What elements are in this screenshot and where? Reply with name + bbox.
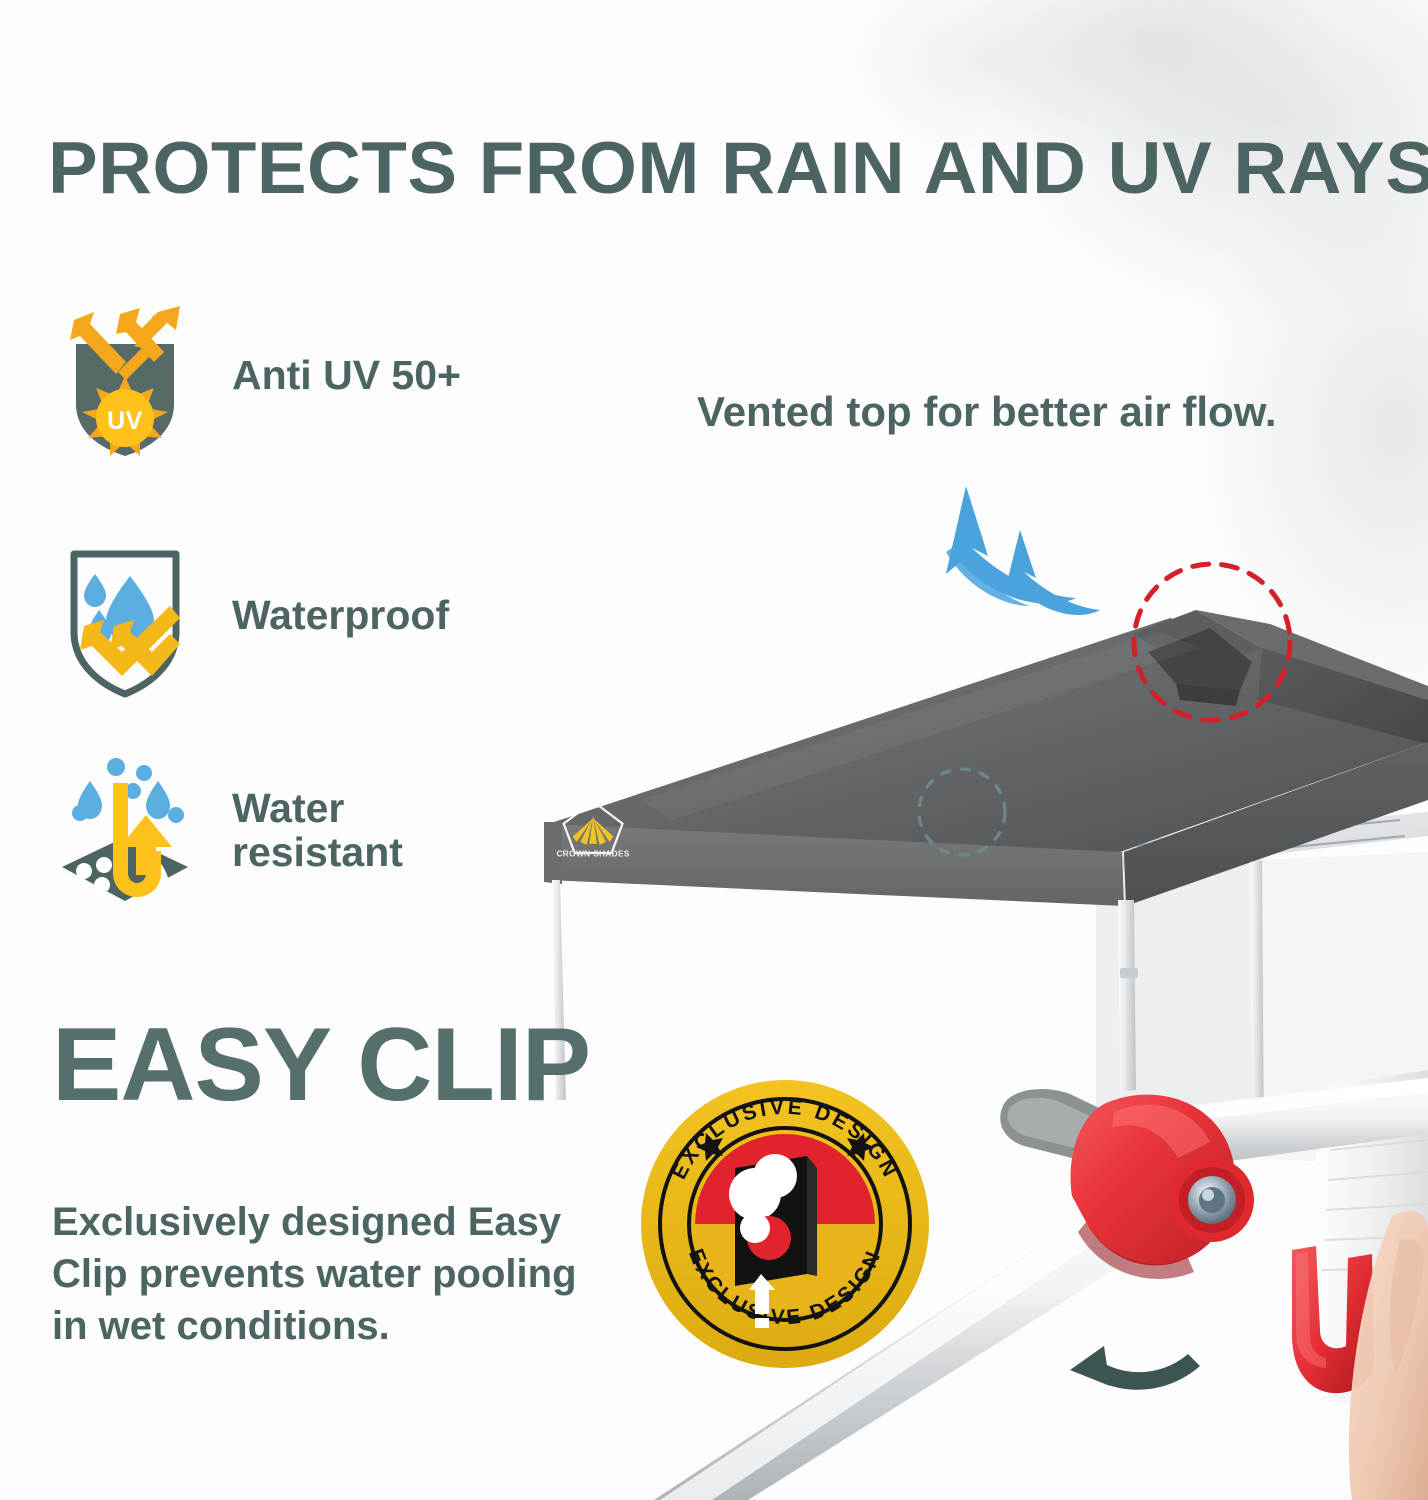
feature-label: Waterproof <box>232 593 449 637</box>
feature-item-waterproof: Waterproof <box>60 540 449 690</box>
water-resistant-surface-icon <box>60 755 190 905</box>
uv-shield-icon: UV <box>60 300 190 450</box>
svg-text:UV: UV <box>107 407 143 435</box>
easy-clip-title: EASY CLIP <box>52 1013 590 1117</box>
tent-sidewalls <box>1096 852 1428 1168</box>
page-title: PROTECTS FROM RAIN AND UV RAYS <box>48 132 1428 205</box>
crown-shades-logo: CROWN SHADES <box>556 802 629 859</box>
vented-top-caption: Vented top for better air flow. <box>697 388 1277 436</box>
feature-item-water-resistant: Water resistant <box>60 755 403 905</box>
teal-dashed-circle-highlight <box>919 769 1005 855</box>
easy-clip-description: Exclusively designed Easy Clip prevents … <box>52 1196 612 1352</box>
red-dashed-circle-highlight <box>1134 564 1290 720</box>
canopy-underside <box>700 812 1428 874</box>
canopy-roof <box>544 610 1428 906</box>
airflow-arrows-icon <box>946 486 1100 615</box>
product-feature-poster: CROWN SHADES <box>0 0 1428 1500</box>
waterproof-shield-icon <box>60 540 190 690</box>
exclusive-design-badge: EXCLUSIVE DESIGN EXCLUSIVE DESIGN <box>639 1078 931 1370</box>
svg-text:CROWN SHADES: CROWN SHADES <box>556 850 629 859</box>
feature-label: Water resistant <box>232 786 403 875</box>
assembly-direction-arrow <box>1070 1346 1200 1390</box>
feature-item-anti-uv: UV Anti UV 50+ <box>60 300 461 450</box>
feature-label: Anti UV 50+ <box>232 353 461 397</box>
